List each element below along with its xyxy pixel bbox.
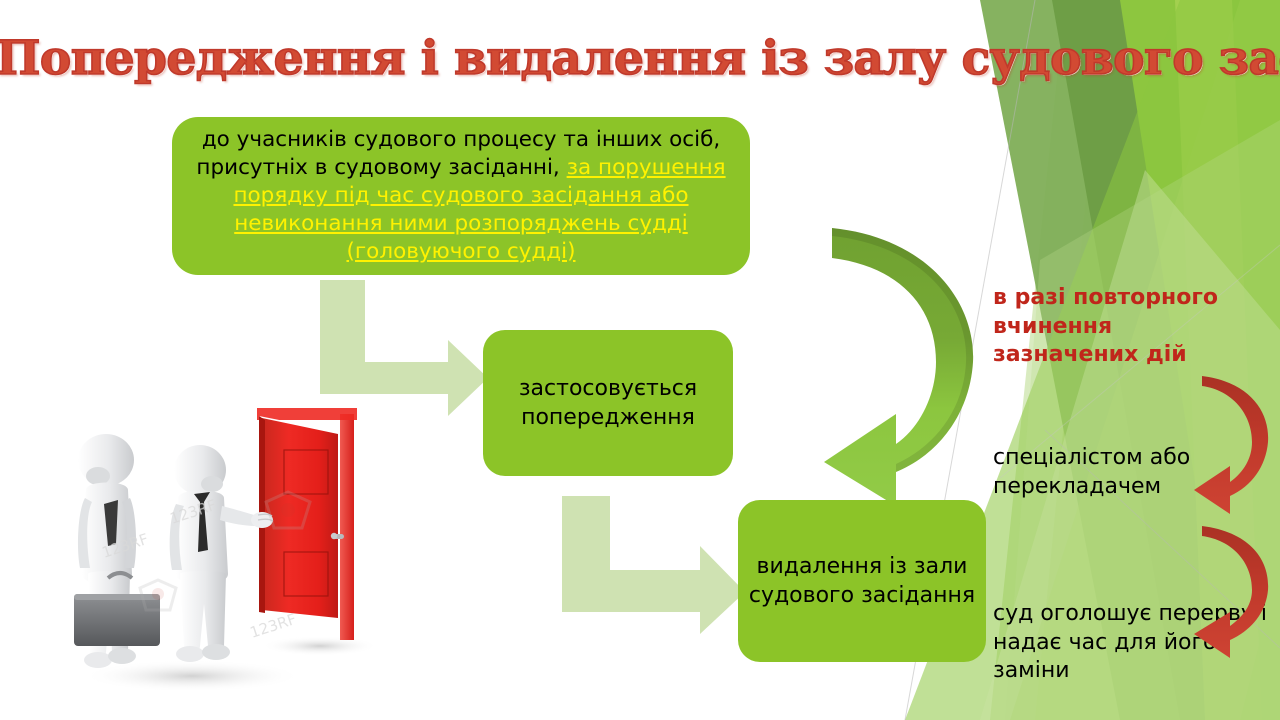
box-removal-label: видалення із зали судового засідання — [738, 552, 986, 610]
photo-figures-and-red-door: 123RF 123RF 123RF — [52, 398, 392, 698]
slide-title: Попередження і видалення із залу судовог… — [0, 34, 1280, 83]
caption-court-announces-recess: суд оголошує перерву і надає час для йог… — [993, 600, 1273, 686]
slide-canvas: Попередження і видалення із залу судовог… — [0, 0, 1280, 720]
stock-watermark: 123RF — [248, 610, 299, 642]
elbow-arrow-to-removal — [540, 452, 760, 634]
caption-specialist-or-interpreter: спеціалістом або перекладачем — [993, 444, 1263, 501]
box-warning-applied: застосовується попередження — [483, 330, 733, 476]
box-removal-from-courtroom: видалення із зали судового засідання — [738, 500, 986, 662]
box-scope-of-persons: до учасників судового процесу та інших о… — [172, 117, 750, 275]
box-warning-label: застосовується попередження — [483, 374, 733, 432]
caption-repeat-offence: в разі повторного вчинення зазначених ді… — [993, 284, 1243, 370]
curved-green-arrow-repeat-cycle — [818, 176, 1008, 506]
